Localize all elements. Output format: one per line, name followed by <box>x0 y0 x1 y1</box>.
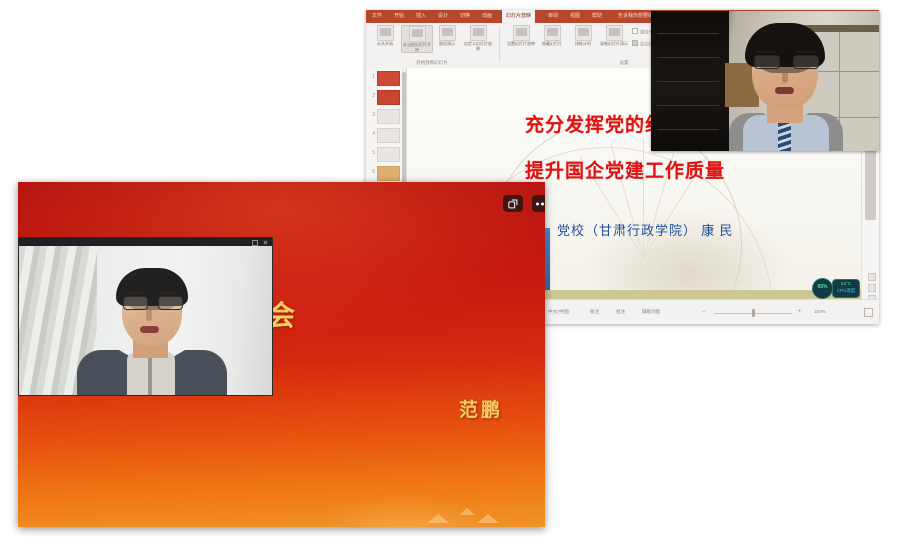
set-up-slide-show-icon <box>513 25 530 41</box>
thumb-number: 1 <box>368 74 375 80</box>
share-icon <box>508 199 518 209</box>
present-online-icon <box>439 25 456 41</box>
zoom-level-label[interactable]: 100% <box>814 309 826 314</box>
eyeglass-left <box>123 296 148 310</box>
ribbon-separator-1 <box>499 26 500 61</box>
slide-thumbnail-3[interactable]: 3 <box>368 107 403 125</box>
ellipsis-icon <box>536 202 545 205</box>
tab-insert[interactable]: 插入 <box>416 12 426 19</box>
slide-thumbnail-6[interactable]: 6 <box>368 164 403 182</box>
rehearse-timings-icon <box>575 25 592 41</box>
eyebrow-left <box>756 51 776 53</box>
tab-slide-show[interactable]: 幻灯片放映 <box>502 10 535 23</box>
cpu-temperature-value: 54°C <box>833 281 859 286</box>
tab-help[interactable]: 帮助 <box>592 12 602 19</box>
hide-slide-icon <box>544 25 561 41</box>
tab-transitions[interactable]: 切换 <box>460 12 470 19</box>
cpu-usage-gauge: 65% <box>812 278 833 299</box>
eyeglass-right <box>793 55 819 69</box>
meeting-share-window[interactable]: 学习 十九届六中全会 精神 范鹏 <box>18 182 545 527</box>
thumb-preview <box>377 90 400 105</box>
thumb-preview <box>377 71 400 86</box>
meeting-slide-presenter: 范鹏 <box>459 395 503 422</box>
presenter-camera-top[interactable] <box>651 11 879 151</box>
nose <box>146 308 152 321</box>
slide-thumbnail-1[interactable]: 1 <box>368 69 403 87</box>
necktie <box>778 123 791 151</box>
slide-landmark-glow <box>311 443 541 527</box>
custom-slide-show-button[interactable]: 自定义幻灯片放映 <box>463 25 493 51</box>
set-up-slide-show-button[interactable]: 设置幻灯片放映 <box>506 25 536 47</box>
nose <box>782 69 788 83</box>
slide-thumbnail-4[interactable]: 4 <box>368 126 403 144</box>
slide-title-line-2: 提升国企党建工作质量 <box>525 156 725 183</box>
slide-subtitle: 党校（甘肃行政学院） 康 民 <box>557 220 734 239</box>
tab-file[interactable]: 文件 <box>372 12 382 19</box>
thumb-preview <box>377 166 400 181</box>
slide-sorter-button[interactable] <box>868 284 876 292</box>
ppt-edge-sliver <box>545 228 550 290</box>
custom-slide-show-icon <box>470 25 487 41</box>
hide-slide-button[interactable]: 隐藏幻灯片 <box>537 25 567 47</box>
thumb-number: 5 <box>368 150 375 156</box>
status-comments[interactable]: 批注 <box>616 309 625 315</box>
zoom-in-button[interactable]: + <box>798 309 802 315</box>
from-beginning-button[interactable]: 从头开始 <box>370 25 400 47</box>
thumb-number: 2 <box>368 93 375 99</box>
cpu-temperature-panel: 54°C CPU温度 <box>832 279 860 298</box>
tab-home[interactable]: 开始 <box>394 12 404 19</box>
ribbon-group-label-start: 开始放映幻灯片 <box>368 60 496 66</box>
mouth <box>775 87 794 94</box>
thumb-preview <box>377 109 400 124</box>
more-options-button[interactable] <box>532 195 545 212</box>
thumb-number: 4 <box>368 131 375 137</box>
eyebrow-right <box>795 51 815 53</box>
eyebrow-right <box>160 292 178 294</box>
slide-thumbnail-2[interactable]: 2 <box>368 88 403 106</box>
eyeglass-left <box>754 55 780 69</box>
slide-thumbnail-5[interactable]: 5 <box>368 145 403 163</box>
from-beginning-icon <box>377 25 394 41</box>
zipper <box>148 352 152 396</box>
tab-review[interactable]: 审阅 <box>548 12 558 19</box>
cpu-usage-value: 65% <box>813 284 832 290</box>
fit-to-window-button[interactable] <box>864 308 873 317</box>
from-current-slide-button[interactable]: 从当前幻灯片开始 <box>401 25 433 53</box>
eyeglass-right <box>158 296 183 310</box>
bookshelf <box>651 11 729 151</box>
status-accessibility[interactable]: 辅助功能 <box>642 309 660 315</box>
landmark-pagoda-3 <box>477 514 499 523</box>
zoom-out-button[interactable]: − <box>702 309 706 315</box>
record-slide-show-icon <box>606 25 623 41</box>
ribbon-group-start-slideshow: 从头开始 从当前幻灯片开始 联机演示 自定义幻灯片放映 开始放映幻灯片 <box>368 24 496 66</box>
landmark-pagoda-1 <box>427 514 449 523</box>
status-notes[interactable]: 备注 <box>590 309 599 315</box>
presenter-camera-inner[interactable] <box>18 237 273 396</box>
from-current-slide-icon <box>409 26 426 42</box>
tab-design[interactable]: 设计 <box>438 12 448 19</box>
thumb-number: 6 <box>368 169 375 175</box>
landmark-pagoda-2 <box>459 508 475 515</box>
checkbox-monitor[interactable]: 监视器 <box>632 40 653 48</box>
cpu-temperature-label: CPU温度 <box>833 288 859 294</box>
rehearse-timings-button[interactable]: 排练计时 <box>568 25 598 47</box>
share-screenshot-button[interactable] <box>503 195 523 212</box>
present-online-button[interactable]: 联机演示 <box>432 25 462 47</box>
tab-view[interactable]: 视图 <box>570 12 580 19</box>
eyebrow-left <box>125 292 143 294</box>
mouth <box>140 326 159 333</box>
camera-titlebar[interactable] <box>19 238 272 246</box>
record-slide-show-button[interactable]: 录制幻灯片演示 <box>599 25 629 47</box>
hardware-monitor-overlay[interactable]: 65% 54°C CPU温度 <box>812 278 858 297</box>
status-language[interactable]: 中文(中国) <box>548 309 569 315</box>
close-icon[interactable] <box>263 240 267 244</box>
camera-video <box>19 246 272 395</box>
thumb-number: 3 <box>368 112 375 118</box>
zoom-slider-knob[interactable] <box>752 309 755 317</box>
thumb-preview <box>377 128 400 143</box>
tab-animations[interactable]: 动画 <box>482 12 492 19</box>
normal-view-button[interactable] <box>868 273 876 281</box>
thumb-preview <box>377 147 400 162</box>
